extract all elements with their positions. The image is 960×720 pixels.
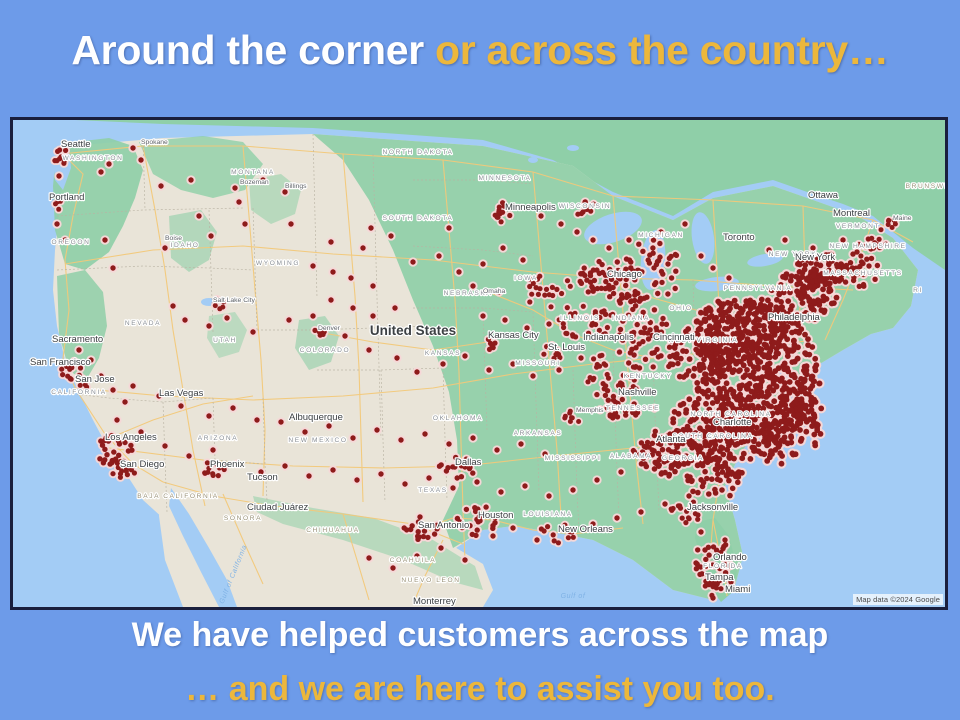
state-label: TEXAS — [418, 487, 448, 494]
city-label: Kansas City — [488, 330, 539, 341]
title-part-white: Around the corner — [71, 27, 435, 73]
region-label: CHIHUAHUA — [306, 527, 360, 534]
city-label: Tampa — [705, 572, 734, 583]
state-label: NORTH DAKOTA — [383, 149, 454, 156]
city-label: Chicago — [607, 269, 642, 280]
city-label: Portland — [49, 192, 84, 203]
city-label: Atlanta — [656, 434, 686, 445]
city-label: Bozeman — [240, 179, 269, 186]
state-label: PENNSYLVANIA — [724, 285, 793, 292]
region-label: NUEVO LEON — [401, 577, 460, 584]
caption-line-1: We have helped customers across the map — [0, 618, 960, 652]
city-label: Minneapolis — [505, 202, 556, 213]
state-label: IOWA — [514, 275, 538, 282]
city-label: Denver — [318, 325, 341, 332]
city-label: Sacramento — [52, 334, 103, 345]
state-label: MONTANA — [231, 169, 275, 176]
state-label: ARKANSAS — [514, 430, 563, 437]
city-label: Miami — [725, 584, 750, 595]
city-label: Philadelphia — [768, 312, 820, 323]
state-label: NEW HAMPSHIRE — [829, 243, 906, 250]
city-label: Ciudad Juárez — [247, 502, 309, 513]
city-label: Ottawa — [808, 190, 839, 201]
state-label: MINNESOTA — [478, 175, 531, 182]
map-attribution: Map data ©2024 Google — [853, 594, 943, 605]
state-label: RI — [913, 287, 923, 294]
country-label: United States — [370, 323, 456, 338]
city-label: Seattle — [61, 139, 91, 150]
city-label: San Jose — [75, 374, 115, 385]
state-label: VERMONT — [836, 223, 880, 230]
water-label: Gulf of — [561, 593, 586, 600]
city-label: Indianapolis — [583, 332, 634, 343]
city-label: Maine — [893, 215, 912, 222]
city-label: Phoenix — [210, 459, 245, 470]
state-label: UTAH — [213, 337, 237, 344]
state-label: MISSOURI — [515, 360, 560, 367]
city-label: Charlotte — [713, 417, 752, 428]
state-label: OHIO — [669, 305, 692, 312]
city-label: San Antonio — [418, 520, 469, 531]
state-label: MISSISSIPPI — [545, 455, 602, 462]
state-label: NEVADA — [125, 320, 161, 327]
state-label: OREGON — [52, 239, 91, 246]
state-label: WASHINGTON — [62, 155, 123, 162]
state-label: INDIANA — [612, 315, 650, 322]
state-label: WISCONSIN — [559, 203, 612, 210]
state-label: KANSAS — [425, 350, 461, 357]
state-label: COLORADO — [300, 347, 351, 354]
state-label: CALIFORNIA — [51, 389, 107, 396]
state-label: TENNESSEE — [606, 405, 660, 412]
city-label: Houston — [478, 510, 513, 521]
city-label: Memphis — [576, 407, 604, 414]
city-label: New Orleans — [558, 524, 613, 535]
city-label: Boise — [165, 235, 182, 242]
state-label: FLORIDA — [703, 563, 743, 570]
region-label: SONORA — [224, 515, 262, 522]
caption-line-2: … and we are here to assist you too. — [0, 672, 960, 706]
city-label: Albuquerque — [289, 412, 343, 423]
city-label: Omaha — [483, 288, 506, 295]
city-label: Spokane — [141, 139, 168, 146]
state-label: KENTUCKY — [624, 373, 673, 380]
page-title: Around the corner or across the country… — [0, 30, 960, 71]
map-canvas[interactable]: WASHINGTONOREGONIDAHOMONTANAWYOMINGNORTH… — [13, 120, 945, 607]
state-label: SOUTH DAKOTA — [383, 215, 454, 222]
city-label: Montreal — [833, 208, 870, 219]
customer-location-map[interactable]: WASHINGTONOREGONIDAHOMONTANAWYOMINGNORTH… — [10, 117, 948, 610]
city-label: San Diego — [120, 459, 164, 470]
city-label: Billings — [285, 183, 307, 190]
city-label: Monterrey — [413, 596, 456, 607]
state-label: IDAHO — [171, 242, 200, 249]
city-label: Orlando — [713, 552, 747, 563]
state-label: GEORGIA — [662, 455, 704, 462]
city-label: Cincinnati — [653, 332, 695, 343]
state-label: ILLINOIS — [560, 315, 600, 322]
state-label: OKLAHOMA — [433, 415, 483, 422]
city-label: Las Vegas — [159, 388, 204, 399]
state-label: LOUISIANA — [523, 511, 573, 518]
city-label: St. Louis — [548, 342, 585, 353]
city-label: Jacksonville — [687, 502, 738, 513]
region-label: BRUNSWICK — [906, 183, 945, 190]
city-label: Los Angeles — [105, 432, 157, 443]
city-label: Tucson — [247, 472, 278, 483]
state-label: NEW MEXICO — [288, 437, 347, 444]
city-label: Nashville — [618, 387, 657, 398]
state-label: WYOMING — [256, 260, 300, 267]
state-label: MICHIGAN — [638, 232, 684, 239]
city-label: San Francisco — [30, 357, 91, 368]
city-label: Salt Lake City — [213, 297, 256, 304]
title-part-gold: or across the country… — [435, 27, 889, 73]
state-label: MASSACHUSETTS — [823, 270, 902, 277]
city-label: Dallas — [455, 457, 482, 468]
state-label: ARIZONA — [198, 435, 239, 442]
region-label: BAJA CALIFORNIA — [137, 493, 219, 500]
city-label: Toronto — [723, 232, 755, 243]
region-label: COAHUILA — [390, 557, 437, 564]
city-label: New York — [795, 252, 835, 263]
slide-canvas: Around the corner or across the country… — [0, 0, 960, 720]
state-label: ALABAMA — [610, 453, 652, 460]
